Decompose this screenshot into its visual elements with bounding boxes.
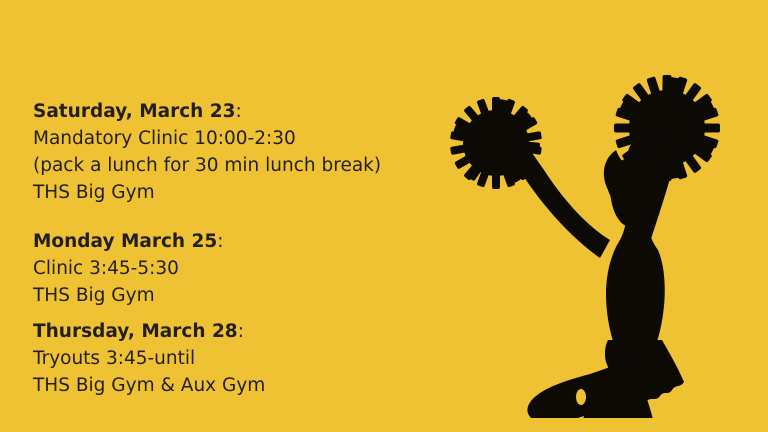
schedule-block-heading: Saturday, March 23:	[33, 98, 381, 125]
schedule-block-date: Monday March 25	[33, 231, 217, 252]
schedule-block-line: Mandatory Clinic 10:00-2:30	[33, 125, 381, 152]
schedule-block-colon: :	[236, 101, 242, 122]
schedule-block-line: THS Big Gym	[33, 179, 381, 206]
legs	[527, 356, 656, 418]
schedule-block-date: Saturday, March 23	[33, 101, 236, 122]
torso	[606, 218, 665, 350]
schedule-block-line: (pack a lunch for 30 min lunch break)	[33, 152, 381, 179]
schedule-block-colon: :	[238, 321, 244, 342]
schedule-block-line: Tryouts 3:45-until	[33, 345, 265, 372]
schedule-block-date: Thursday, March 28	[33, 321, 238, 342]
schedule-block-heading: Monday March 25:	[33, 228, 224, 255]
schedule-block-line: THS Big Gym & Aux Gym	[33, 372, 265, 399]
schedule-block-heading: Thursday, March 28:	[33, 318, 265, 345]
schedule-block: Saturday, March 23: Mandatory Clinic 10:…	[33, 98, 381, 206]
schedule-block: Thursday, March 28: Tryouts 3:45-until T…	[33, 318, 265, 399]
poster-canvas: THS Cheer Information Saturday, March 23…	[0, 0, 768, 432]
arm-left	[512, 150, 610, 258]
schedule-block-colon: :	[217, 231, 223, 252]
schedule-block: Monday March 25: Clinic 3:45-5:30 THS Bi…	[33, 228, 224, 309]
schedule-block-line: Clinic 3:45-5:30	[33, 255, 224, 282]
leg-gap	[576, 389, 586, 405]
cheerleader-silhouette-icon	[440, 58, 750, 418]
page-title: THS Cheer Information	[33, 46, 464, 81]
schedule-block-line: THS Big Gym	[33, 282, 224, 309]
